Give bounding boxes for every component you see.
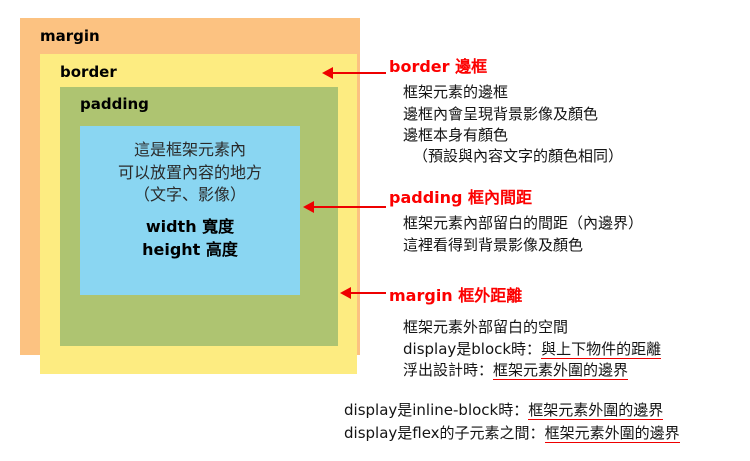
annotation-line: display是block時：與上下物件的距離 [403,339,747,360]
annotation-line: display是flex的子元素之間：框架元素外圍的邊界 [344,422,750,445]
annotation-line: 邊框本身有顏色 [403,125,747,146]
annotation-title-margin: margin 框外距離 [389,287,747,305]
content-width-label: width 寬度 [146,216,234,238]
annotation-title-border: border 邊框 [389,58,747,76]
annotation-body-margin: 框架元素外部留白的空間 display是block時：與上下物件的距離 浮出設計… [403,317,747,381]
annotation-line-prefix: display是flex的子元素之間： [344,424,545,442]
annotation-line: 這裡看得到背景影像及顏色 [403,235,747,256]
content-text-line: 這是框架元素內 [134,139,246,162]
annotation-body-border: 框架元素的邊框 邊框內會呈現背景影像及顏色 邊框本身有顏色 （預設與內容文字的顏… [403,82,747,167]
annotation-title-padding: padding 框內間距 [389,189,747,207]
border-layer: border padding 這是框架元素內 可以放置內容的地方 （文字、影像）… [40,54,357,374]
content-text-line: 可以放置內容的地方 [118,162,262,185]
padding-layer: padding 這是框架元素內 可以放置內容的地方 （文字、影像） width … [60,87,338,346]
annotation-line: （預設與內容文字的顏色相同） [413,146,747,167]
annotation-line-prefix: 浮出設計時： [403,361,493,379]
annotation-block-border: border 邊框 框架元素的邊框 邊框內會呈現背景影像及顏色 邊框本身有顏色 … [389,58,747,168]
annotation-line-underlined: 框架元素外圍的邊界 [545,424,680,443]
annotation-line-prefix: display是inline-block時： [344,401,528,419]
box-model-diagram: margin border padding 這是框架元素內 可以放置內容的地方 … [20,18,360,355]
annotation-line: 浮出設計時：框架元素外圍的邊界 [403,360,747,381]
annotation-line-underlined: 與上下物件的距離 [541,340,661,359]
content-height-label: height 高度 [142,239,238,261]
content-layer: 這是框架元素內 可以放置內容的地方 （文字、影像） width 寬度 heigh… [80,126,300,295]
annotation-line-prefix: 框架元素外部留白的空間 [403,318,568,336]
padding-layer-label: padding [80,97,149,112]
margin-layer-label: margin [40,29,100,44]
annotation-block-padding: padding 框內間距 框架元素內部留白的間距（內邊界） 這裡看得到背景影像及… [389,189,747,256]
margin-layer: margin border padding 這是框架元素內 可以放置內容的地方 … [20,18,360,355]
annotation-block-extra: display是inline-block時：框架元素外圍的邊界 display是… [344,399,750,444]
annotation-block-margin: margin 框外距離 框架元素外部留白的空間 display是block時：與… [389,287,747,381]
annotation-line: display是inline-block時：框架元素外圍的邊界 [344,399,750,422]
annotation-line: 框架元素的邊框 [403,82,747,103]
annotation-line-underlined: 框架元素外圍的邊界 [528,401,663,420]
annotation-body-padding: 框架元素內部留白的間距（內邊界） 這裡看得到背景影像及顏色 [403,213,747,256]
content-text-line: （文字、影像） [134,184,246,207]
annotation-line: 邊框內會呈現背景影像及顏色 [403,104,747,125]
annotation-line: 框架元素內部留白的間距（內邊界） [403,213,747,234]
annotation-line-underlined: 框架元素外圍的邊界 [493,361,628,380]
annotation-line: 框架元素外部留白的空間 [403,317,747,338]
border-layer-label: border [60,65,117,80]
annotation-line-prefix: display是block時： [403,340,541,358]
